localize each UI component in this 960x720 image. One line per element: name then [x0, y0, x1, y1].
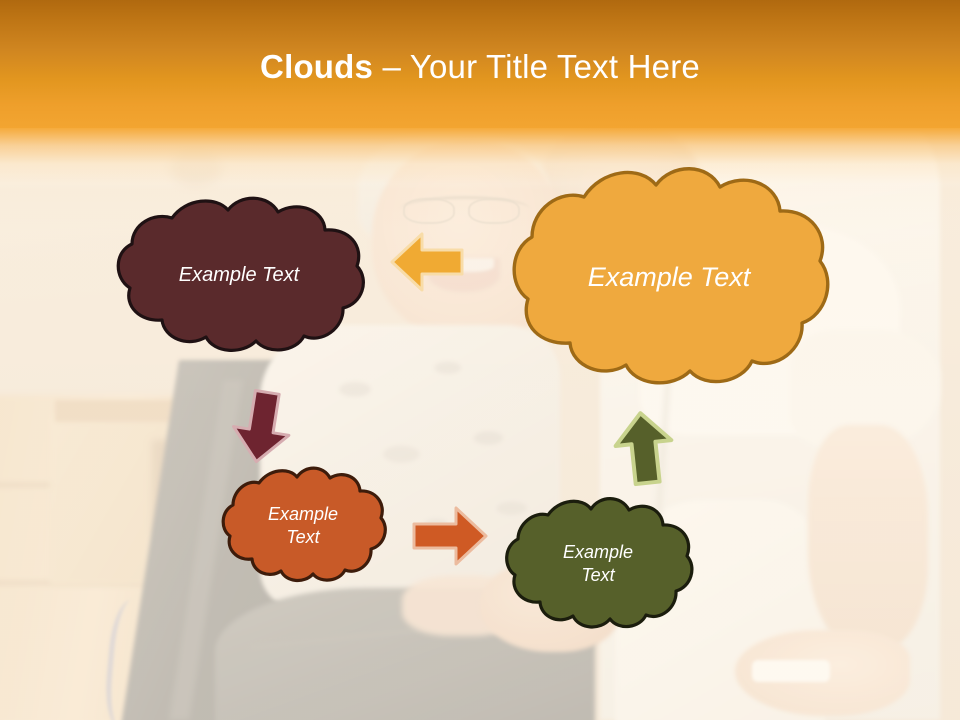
- down-arrow-icon[interactable]: [231, 390, 293, 462]
- slide-canvas: Clouds – Your Title Text Here E: [0, 0, 960, 720]
- right-arrow-icon[interactable]: [412, 505, 486, 567]
- large-orange-cloud[interactable]: Example Text: [506, 165, 832, 390]
- photo-caregiver-held-item: [752, 660, 830, 682]
- title-rest: Your Title Text Here: [410, 48, 700, 85]
- olive-green-cloud[interactable]: Example Text: [502, 497, 694, 631]
- small-orange-cloud[interactable]: Example Text: [219, 467, 387, 584]
- page-title: Clouds – Your Title Text Here: [0, 47, 960, 87]
- title-separator: –: [373, 48, 410, 85]
- maroon-cloud[interactable]: Example Text: [112, 196, 366, 355]
- left-arrow-icon[interactable]: [392, 229, 462, 295]
- up-arrow-icon[interactable]: [613, 411, 675, 485]
- photo-background-object: [170, 150, 222, 186]
- title-emphasis: Clouds: [260, 48, 373, 85]
- photo-caregiver-arm: [808, 425, 928, 650]
- photo-woman-glasses-left: [403, 198, 455, 224]
